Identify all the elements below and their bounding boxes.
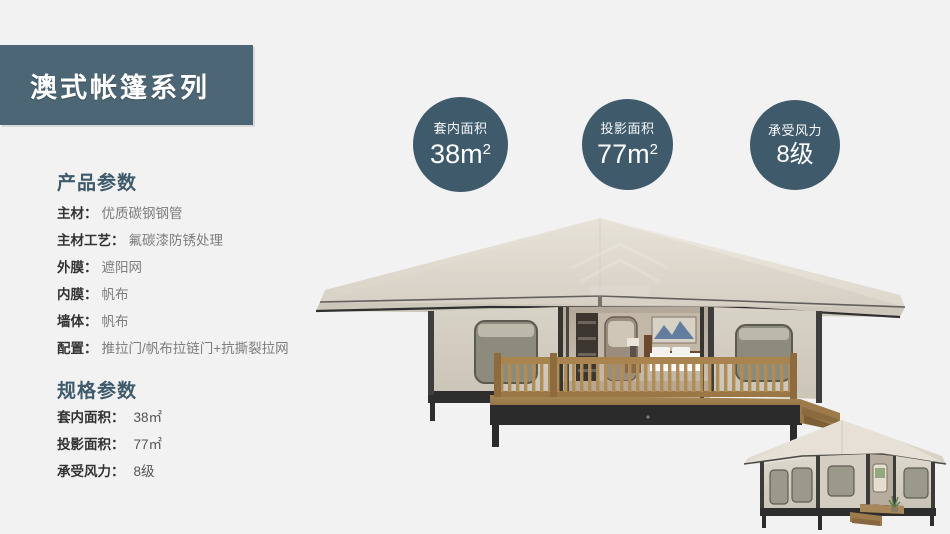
product-params-heading: 产品参数: [57, 168, 137, 195]
spec-row: 套内面积：38㎡: [57, 404, 337, 431]
stat-badge-interior-area: 套内面积 38m2: [413, 97, 508, 192]
param-value: 氟碳漆防锈处理: [129, 233, 224, 248]
stat-badge-value: 38m2: [430, 141, 491, 168]
slide-canvas: 澳式帐篷系列 产品参数 主材：优质碳钢钢管 主材工艺：氟碳漆防锈处理 外膜：遮阳…: [0, 0, 950, 534]
param-label: 主材工艺：: [57, 233, 125, 248]
spec-value: 77㎡: [134, 437, 163, 452]
stat-value-superscript: 2: [483, 141, 491, 158]
spec-row: 投影面积：77㎡: [57, 431, 337, 458]
title-banner: 澳式帐篷系列: [0, 45, 253, 125]
param-value: 推拉门/帆布拉链门+抗撕裂拉网: [102, 341, 289, 356]
stat-value-number: 38: [430, 139, 460, 169]
stat-value-number: 77: [597, 139, 627, 169]
spec-value: 8级: [134, 464, 155, 479]
spec-label: 投影面积：: [57, 437, 125, 452]
page-title: 澳式帐篷系列: [30, 66, 210, 105]
spec-row: 承受风力：8级: [57, 458, 337, 485]
stat-badge-label: 投影面积: [600, 122, 654, 135]
stat-badge-wind-resistance: 承受风力 8级: [750, 100, 840, 190]
param-label: 主材：: [57, 206, 98, 221]
stat-badge-projected-area: 投影面积 77m2: [582, 99, 673, 190]
spec-value: 38㎡: [134, 410, 163, 425]
stat-value-number: 8级: [776, 141, 813, 168]
stat-value-unit: m: [627, 139, 650, 169]
stat-badge-value: 77m2: [597, 141, 658, 168]
param-value: 优质碳钢钢管: [102, 206, 183, 221]
stat-badge-label: 套内面积: [433, 122, 487, 135]
param-value: 帆布: [102, 287, 129, 302]
param-value: 遮阳网: [102, 260, 143, 275]
spec-params-heading: 规格参数: [57, 376, 137, 403]
param-value: 帆布: [102, 314, 129, 329]
tent-inset-image: [742, 412, 950, 534]
stat-value-superscript: 2: [650, 141, 658, 158]
spec-params-list: 套内面积：38㎡ 投影面积：77㎡ 承受风力：8级: [57, 404, 337, 485]
pavilion-roof-watermark-icon: [560, 238, 680, 304]
stat-badge-label: 承受风力: [768, 124, 822, 137]
param-label: 配置：: [57, 341, 98, 356]
param-label: 内膜：: [57, 287, 98, 302]
spec-label: 套内面积：: [57, 410, 125, 425]
param-label: 墙体：: [57, 314, 98, 329]
spec-label: 承受风力：: [57, 464, 125, 479]
stat-value-unit: m: [460, 139, 483, 169]
stat-badge-value: 8级: [776, 143, 813, 167]
param-label: 外膜：: [57, 260, 98, 275]
